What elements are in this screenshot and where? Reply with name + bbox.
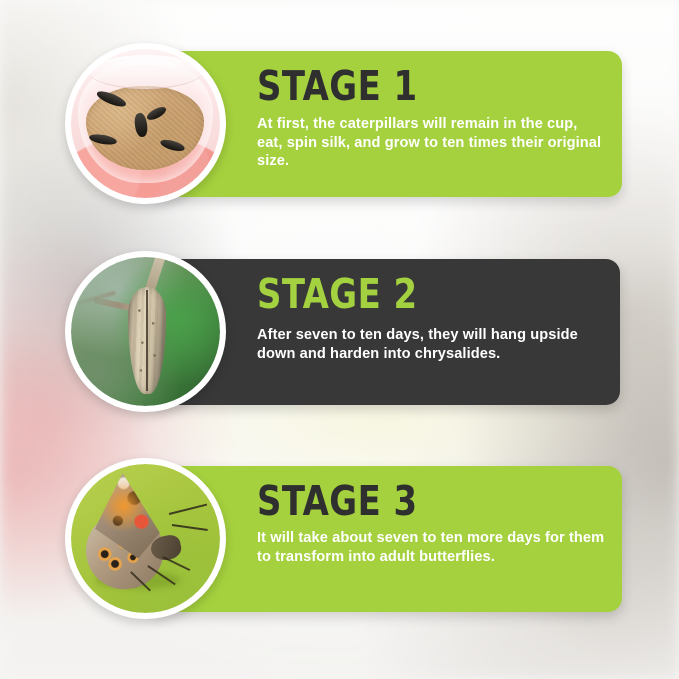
stage-title-3: STAGE 3 (257, 466, 578, 523)
chrysalis-shape (128, 287, 167, 394)
butterfly-antenna (172, 524, 208, 531)
caterpillars-in-cup-photo (71, 49, 220, 198)
stage-title-2: STAGE 2 (257, 259, 576, 316)
butterfly-leg (163, 556, 190, 570)
stage-panel-1-body: STAGE 1 At first, the caterpillars will … (257, 51, 606, 197)
cup-lid-shape (89, 55, 202, 89)
painted-lady-butterfly-photo (71, 464, 220, 613)
stage-row-1: STAGE 1 At first, the caterpillars will … (0, 51, 679, 197)
stage-description-2: After seven to ten days, they will hang … (257, 316, 604, 363)
butterfly-antenna (169, 504, 207, 515)
stage-title-1: STAGE 1 (257, 51, 578, 108)
stage-description-1: At first, the caterpillars will remain i… (257, 108, 606, 171)
infographic-root: STAGE 1 At first, the caterpillars will … (0, 0, 679, 679)
stage-row-2: STAGE 2 After seven to ten days, they wi… (0, 259, 679, 405)
chrysalis-on-twig-photo (71, 257, 220, 406)
stage-row-3: STAGE 3 It will take about seven to ten … (0, 466, 679, 612)
stage-photo-1 (65, 43, 226, 204)
stage-panel-2-body: STAGE 2 After seven to ten days, they wi… (257, 259, 604, 405)
stage-photo-2 (65, 251, 226, 412)
stage-panel-3-body: STAGE 3 It will take about seven to ten … (257, 466, 606, 612)
stage-description-3: It will take about seven to ten more day… (257, 523, 606, 566)
stage-photo-3 (65, 458, 226, 619)
